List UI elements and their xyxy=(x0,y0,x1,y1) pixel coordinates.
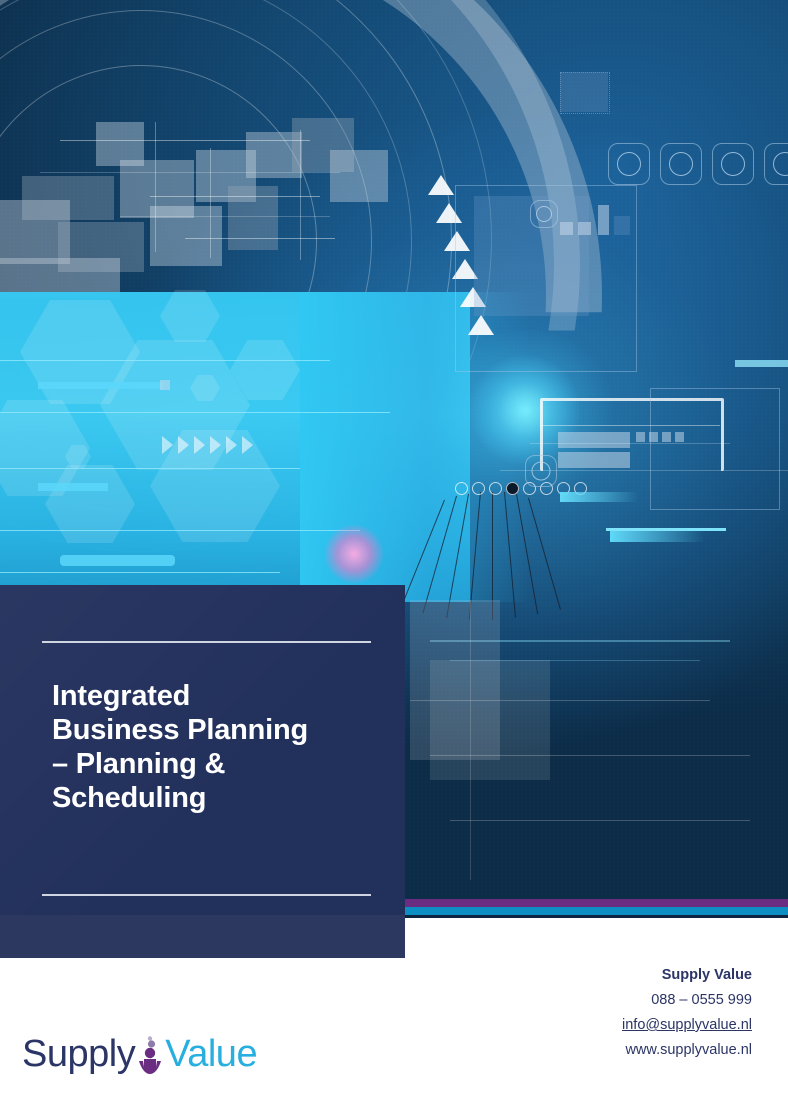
hud-line-1 xyxy=(540,425,720,426)
chevron-icon-5 xyxy=(226,436,237,454)
hero-vline-1 xyxy=(155,122,156,252)
cyan-bar-3 xyxy=(60,555,175,566)
hero-vline-2 xyxy=(210,148,211,258)
hero-panel-l xyxy=(330,150,388,202)
hero-lower-hline-2 xyxy=(430,755,750,756)
title-rule-bottom xyxy=(42,894,371,896)
cyan-wedge-2 xyxy=(606,528,726,531)
cyan-wedge-3 xyxy=(560,492,638,502)
hud-bar-1 xyxy=(558,432,630,448)
cyan-line-1 xyxy=(0,360,330,361)
status-icon-4 xyxy=(764,143,788,185)
cyan-bar-1 xyxy=(38,382,163,389)
cyan-bar-2 xyxy=(38,483,108,491)
contact-email-link[interactable]: info@supplyvalue.nl xyxy=(452,1013,752,1038)
hud-line-4 xyxy=(735,360,788,367)
contact-company-name: Supply Value xyxy=(452,963,752,988)
supply-value-figure-icon xyxy=(135,1028,165,1080)
hud-chip-2 xyxy=(649,432,658,442)
chevron-icon-6 xyxy=(242,436,253,454)
cyan-wedge-1 xyxy=(610,530,705,542)
refresh-icon-box-1 xyxy=(525,455,557,487)
hero-vline-3 xyxy=(300,130,301,260)
cyan-line-3 xyxy=(0,468,300,469)
hero-lower-panel-2 xyxy=(430,660,550,780)
status-icon-3 xyxy=(712,143,754,185)
chevron-icon-2 xyxy=(178,436,189,454)
hero-chip-c xyxy=(598,205,609,235)
status-icon-2 xyxy=(660,143,702,185)
hero-chip-d xyxy=(614,216,630,235)
hero-lower-vline xyxy=(470,600,471,880)
cyan-line-2 xyxy=(0,412,390,413)
chevron-icon-3 xyxy=(194,436,205,454)
cyan-line-4 xyxy=(0,530,360,531)
logo-text-supply: Supply xyxy=(22,1035,135,1073)
hud-bar-2 xyxy=(558,452,630,468)
page-title: Integrated Business Planning – Planning … xyxy=(52,679,382,815)
hud-fill-1 xyxy=(560,72,608,112)
contact-block: Supply Value 088 – 0555 999 info@supplyv… xyxy=(452,963,752,1063)
hero-line-4 xyxy=(120,216,330,217)
chevron-icon-1 xyxy=(162,436,173,454)
title-rule-top xyxy=(42,641,371,643)
chevron-icon-4 xyxy=(210,436,221,454)
hero-line-3 xyxy=(150,196,320,197)
hud-chip-3 xyxy=(662,432,671,442)
contact-phone: 088 – 0555 999 xyxy=(452,988,752,1013)
accent-stripe-navy xyxy=(405,915,788,918)
pink-glow-dot xyxy=(325,525,383,583)
cyan-chip-1 xyxy=(160,380,170,390)
hero-panel-j xyxy=(150,206,222,266)
hero-lower-hline-1 xyxy=(410,700,710,701)
logo-text-value: Value xyxy=(165,1035,257,1073)
hud-chip-1 xyxy=(636,432,645,442)
hud-frame-2 xyxy=(650,388,780,510)
supply-value-logo: Supply Value xyxy=(22,1028,257,1080)
hero-line-1 xyxy=(60,140,310,141)
accent-stripe-cyan xyxy=(405,907,788,915)
hero-line-5 xyxy=(185,238,335,239)
title-panel-lower-band xyxy=(0,915,405,958)
hud-line-2 xyxy=(530,443,730,444)
accent-stripe-purple xyxy=(405,899,788,907)
contact-website[interactable]: www.supplyvalue.nl xyxy=(452,1038,752,1063)
cyan-line-5 xyxy=(0,572,280,573)
hero-chip-b xyxy=(578,222,591,235)
hud-chip-4 xyxy=(675,432,684,442)
status-icon-1 xyxy=(608,143,650,185)
hero-panel-f xyxy=(96,122,144,166)
hero-line-2 xyxy=(40,172,340,173)
hero-chip-a xyxy=(560,222,573,235)
hero-lower-hline-3 xyxy=(450,820,750,821)
refresh-icon-box-2 xyxy=(530,200,558,228)
